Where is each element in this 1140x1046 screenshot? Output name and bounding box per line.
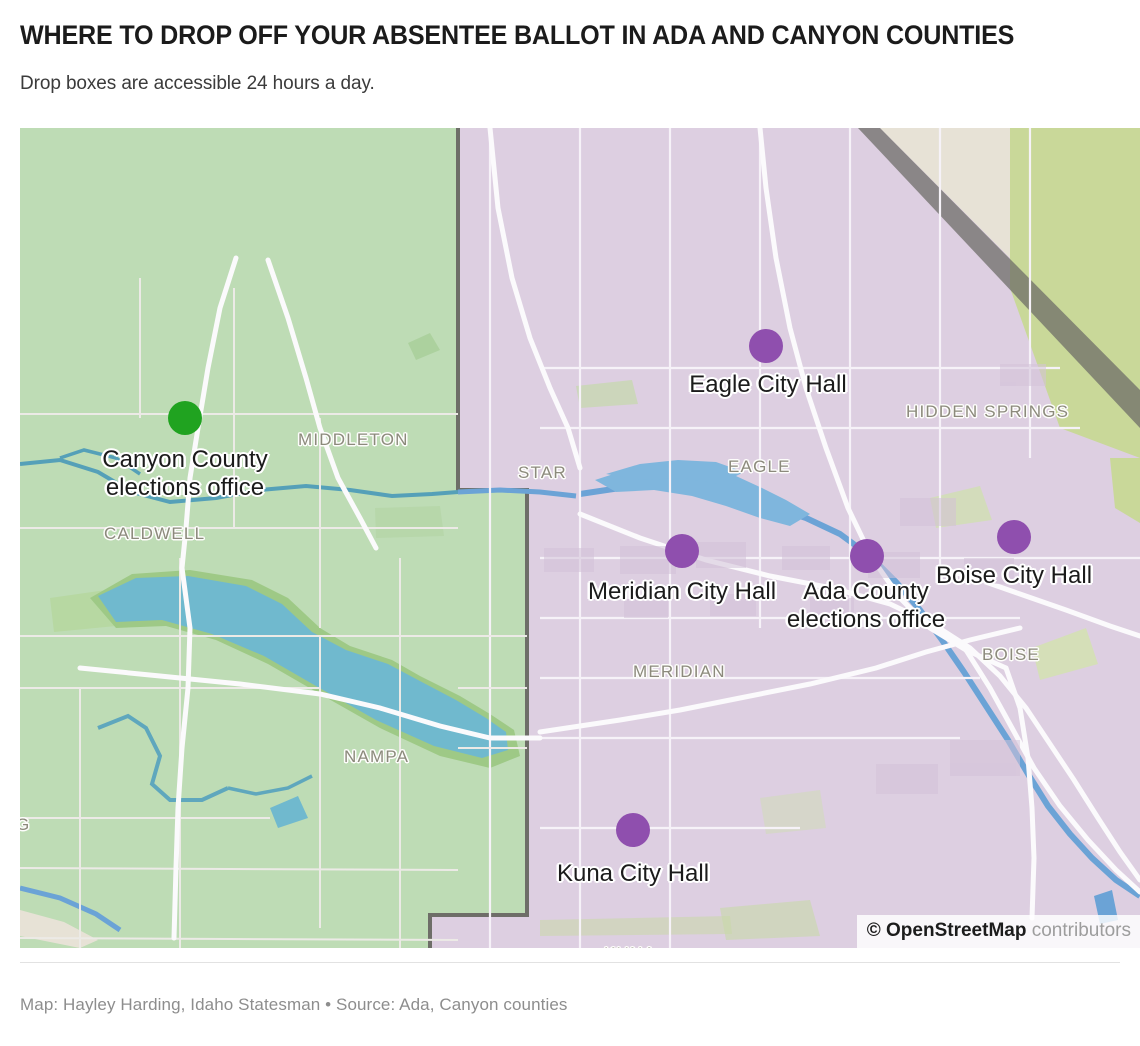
marker-eagle-city-hall[interactable] <box>749 329 783 363</box>
site-label-line: elections office <box>102 474 267 502</box>
map-layers: MIDDLETON STAR EAGLE HIDDEN SPRINGS CALD… <box>20 128 1140 948</box>
map-canvas[interactable]: MIDDLETON STAR EAGLE HIDDEN SPRINGS CALD… <box>20 128 1140 948</box>
site-label-line: Ada County <box>787 578 945 606</box>
site-label-boise-city-hall: Boise City Hall <box>936 562 1092 590</box>
marker-ada-county-elections-office[interactable] <box>850 539 884 573</box>
site-label-line: Canyon County <box>102 446 267 474</box>
site-label-line: elections office <box>787 606 945 634</box>
canyon-county-fill <box>20 128 527 948</box>
marker-kuna-city-hall[interactable] <box>616 813 650 847</box>
site-label-kuna-city-hall: Kuna City Hall <box>557 860 709 888</box>
openstreetmap-label: © OpenStreetMap <box>867 920 1027 941</box>
site-label-line: Kuna City Hall <box>557 860 709 888</box>
infographic-page: WHERE TO DROP OFF YOUR ABSENTEE BALLOT I… <box>0 0 1140 1046</box>
contributors-label: contributors <box>1026 920 1131 941</box>
site-label-meridian-city-hall: Meridian City Hall <box>588 578 776 606</box>
header: WHERE TO DROP OFF YOUR ABSENTEE BALLOT I… <box>20 0 1120 95</box>
page-subtitle: Drop boxes are accessible 24 hours a day… <box>20 49 1120 95</box>
site-label-line: Eagle City Hall <box>689 371 846 399</box>
marker-canyon-county-elections-office[interactable] <box>168 401 202 435</box>
map-basemap <box>20 128 1140 948</box>
footer-divider <box>20 962 1120 963</box>
green-patch-4 <box>375 506 444 538</box>
site-label-canyon-county-elections-office: Canyon County elections office <box>102 446 267 503</box>
map-attribution[interactable]: © OpenStreetMap contributors <box>857 915 1140 948</box>
site-label-line: Boise City Hall <box>936 562 1092 590</box>
site-label-ada-county-elections-office: Ada County elections office <box>787 578 945 635</box>
site-label-line: Meridian City Hall <box>588 578 776 606</box>
page-title: WHERE TO DROP OFF YOUR ABSENTEE BALLOT I… <box>20 0 1043 49</box>
footer-credit: Map: Hayley Harding, Idaho Statesman • S… <box>20 995 568 1015</box>
marker-meridian-city-hall[interactable] <box>665 534 699 568</box>
site-label-eagle-city-hall: Eagle City Hall <box>689 371 846 399</box>
marker-boise-city-hall[interactable] <box>997 520 1031 554</box>
